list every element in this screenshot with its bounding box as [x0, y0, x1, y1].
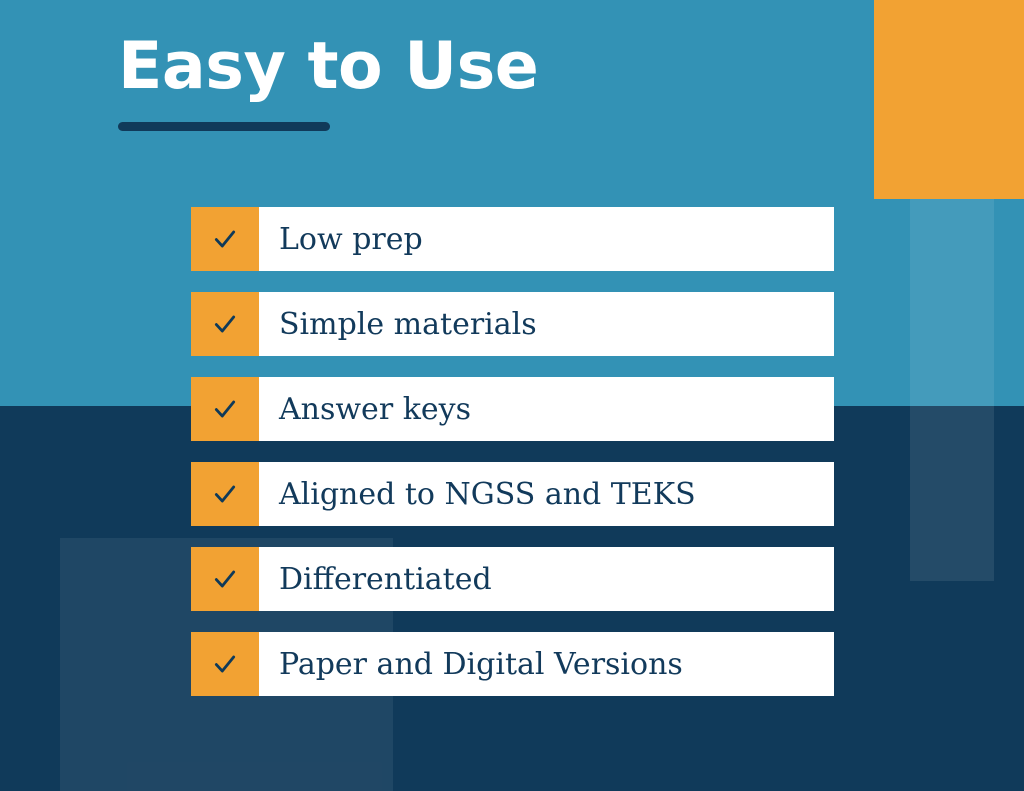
checkmark-box	[191, 547, 259, 611]
check-icon	[212, 481, 238, 507]
list-item-label: Answer keys	[259, 377, 834, 441]
checklist: Low prep Simple materials Answer keys	[191, 207, 834, 696]
list-item: Simple materials	[191, 292, 834, 356]
slide-canvas: Easy to Use Low prep Simple materials	[0, 0, 1024, 791]
checkmark-box	[191, 377, 259, 441]
list-item: Differentiated	[191, 547, 834, 611]
checkmark-box	[191, 632, 259, 696]
check-icon	[212, 311, 238, 337]
list-item-label: Simple materials	[259, 292, 834, 356]
title-underline-bar	[118, 122, 330, 131]
list-item: Low prep	[191, 207, 834, 271]
list-item-label: Low prep	[259, 207, 834, 271]
list-item-label: Paper and Digital Versions	[259, 632, 834, 696]
list-item-label: Differentiated	[259, 547, 834, 611]
check-icon	[212, 396, 238, 422]
checkmark-box	[191, 462, 259, 526]
check-icon	[212, 566, 238, 592]
list-item: Aligned to NGSS and TEKS	[191, 462, 834, 526]
checkmark-box	[191, 207, 259, 271]
list-item: Answer keys	[191, 377, 834, 441]
decorative-right-panel	[910, 199, 994, 581]
list-item: Paper and Digital Versions	[191, 632, 834, 696]
decorative-orange-rectangle	[874, 0, 1024, 199]
check-icon	[212, 651, 238, 677]
check-icon	[212, 226, 238, 252]
page-title: Easy to Use	[118, 34, 858, 100]
checkmark-box	[191, 292, 259, 356]
list-item-label: Aligned to NGSS and TEKS	[259, 462, 834, 526]
header: Easy to Use	[118, 34, 858, 131]
